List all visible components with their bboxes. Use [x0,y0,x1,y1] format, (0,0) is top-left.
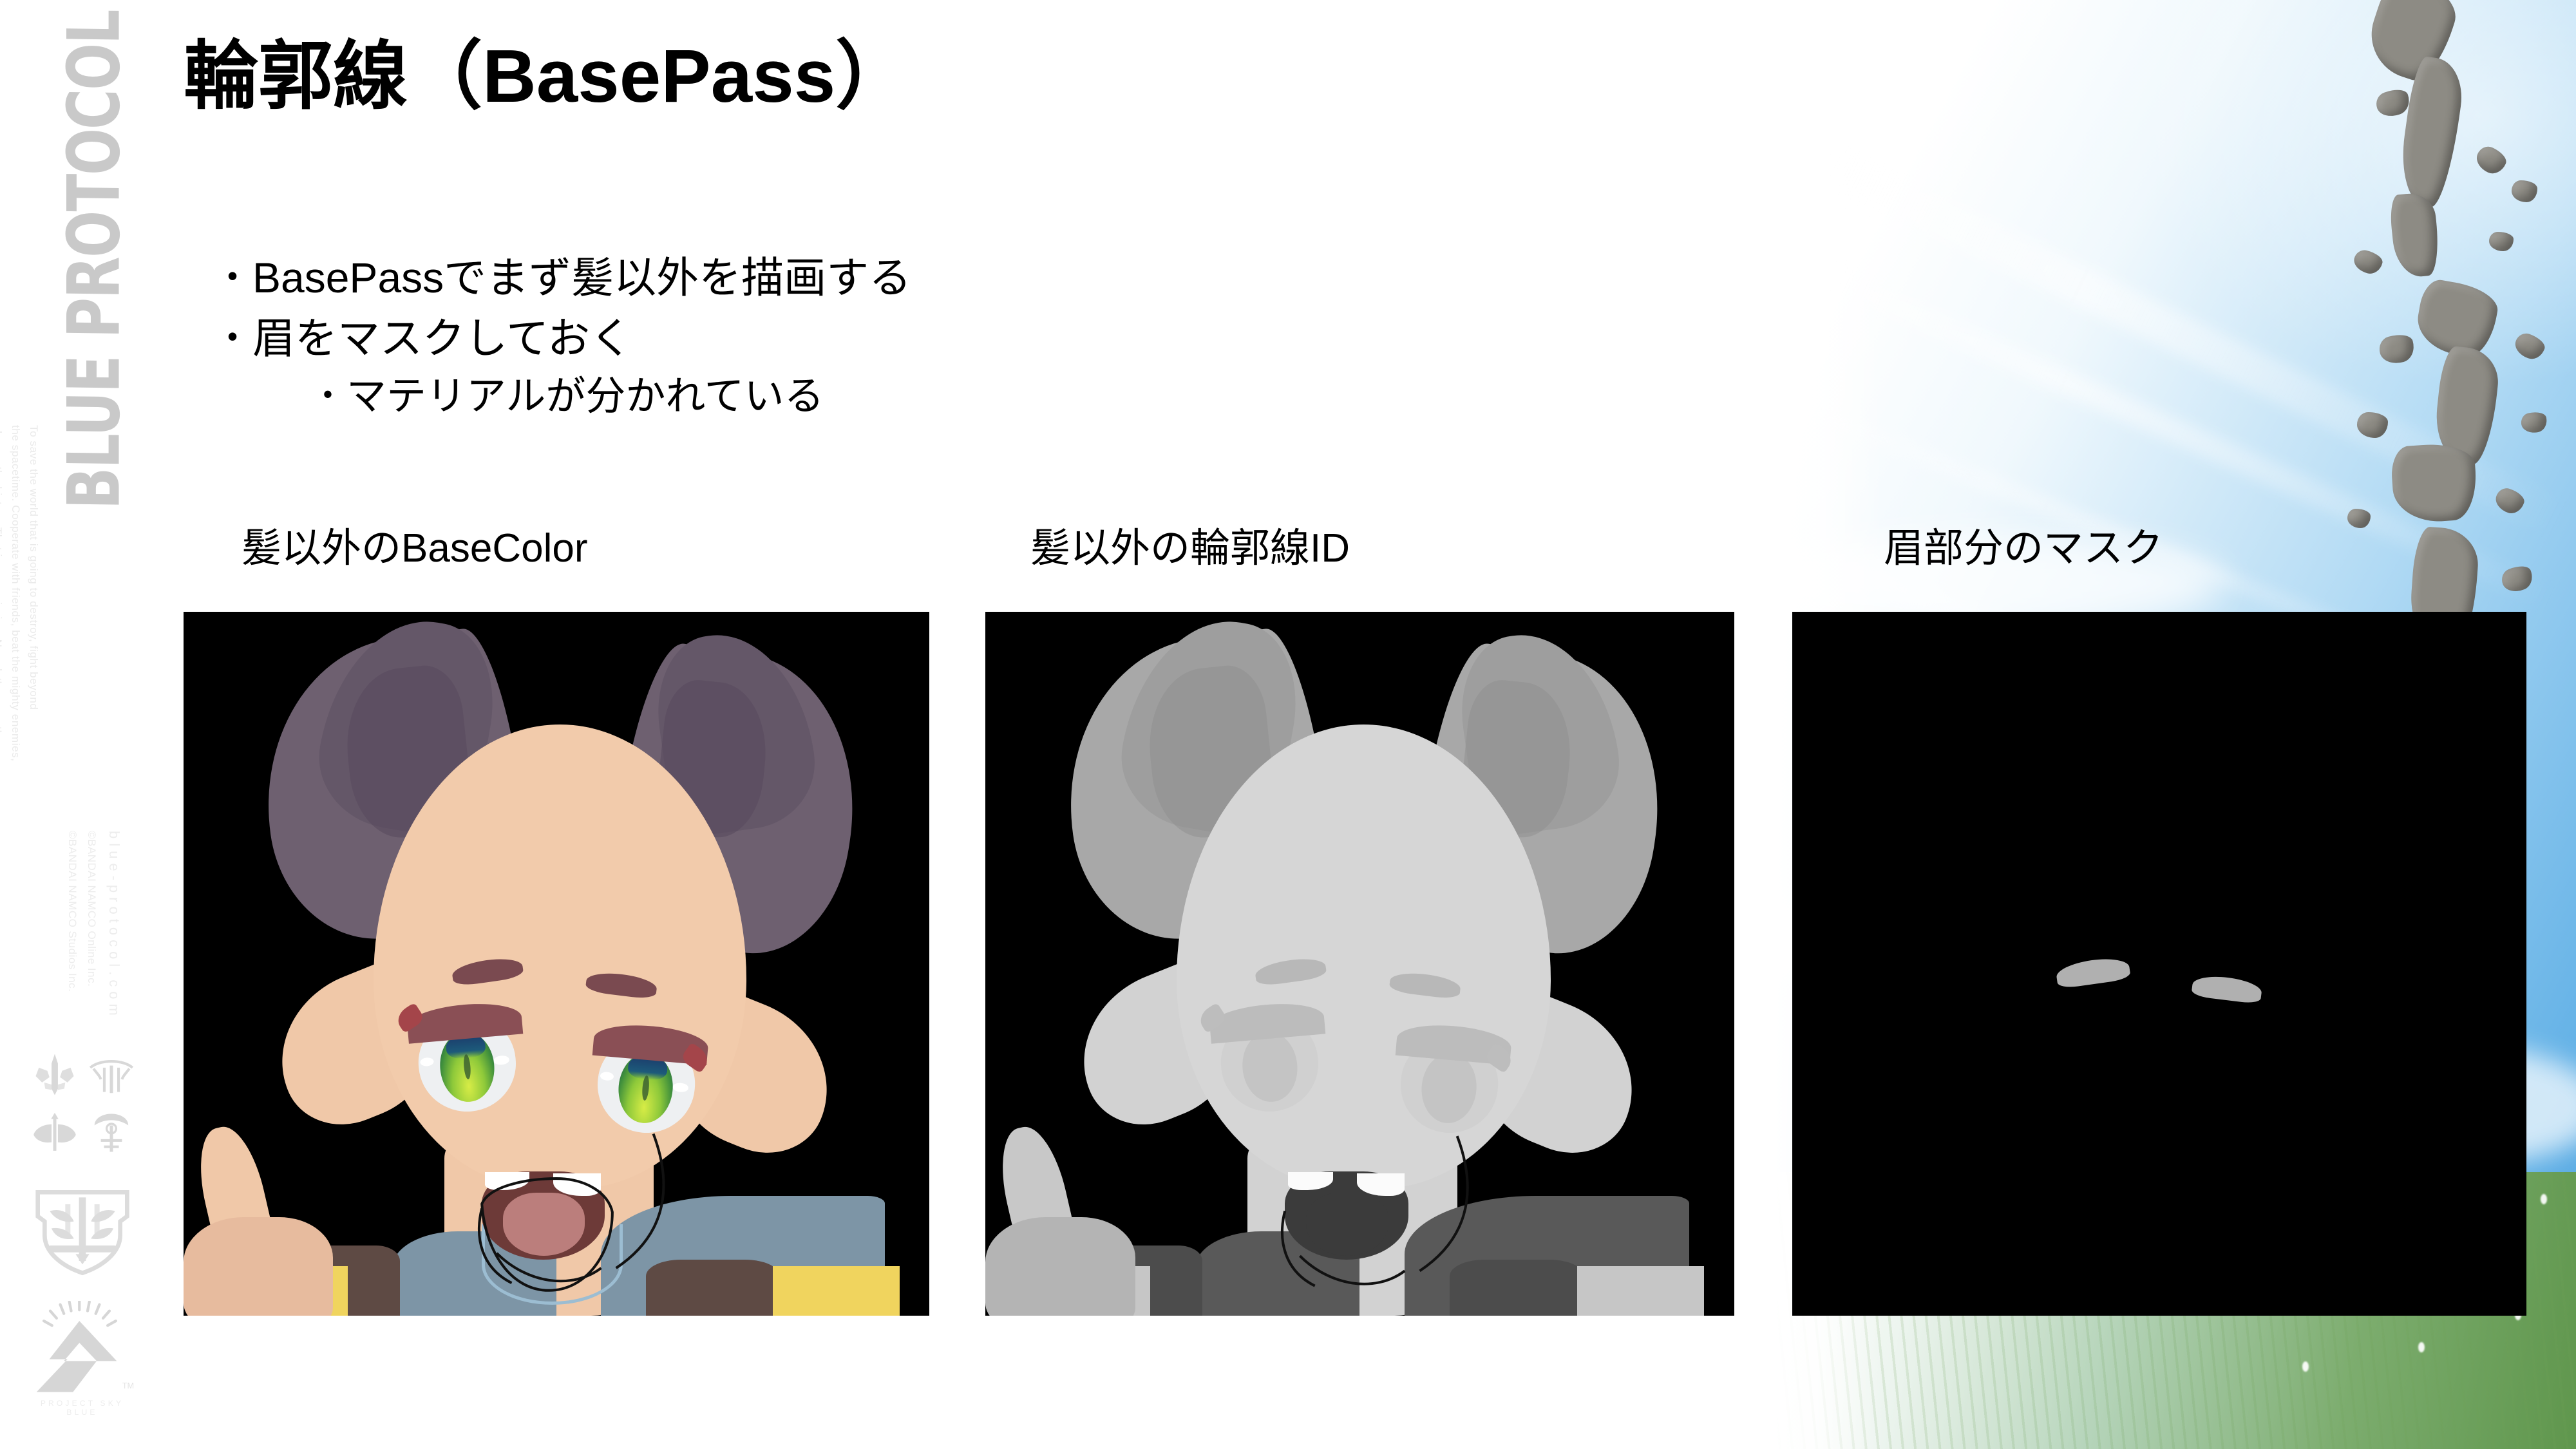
figure-caption-outline-id: 髪以外の輪郭線ID [1030,515,1350,573]
project-sky-blue-logo: TM PROJECT SKY BLUE [26,1301,138,1417]
face-lineart [184,612,929,1316]
bullet-item-sub: • マテリアルが分かれている [309,368,911,425]
svg-text:TM: TM [122,1381,134,1390]
figure-outline-id [985,612,1734,1316]
bullet-marker: • [309,368,346,420]
axe-class-icon [28,1106,81,1159]
staff-class-icon [85,1106,138,1159]
brand-strip: BLUE PROTOCOL TM To save the world that … [0,0,174,1449]
project-sky-blue-label: PROJECT SKY BLUE [26,1399,138,1417]
figure-base-color [184,612,929,1316]
character-outline-id [985,612,1734,1316]
class-icon-group [28,1050,138,1159]
bullet-marker: • [213,248,252,304]
bullet-marker: • [213,308,252,365]
eyebrow-mask-left [2055,955,2131,989]
figure-eyebrow-mask [1792,612,2526,1316]
bullet-item: • BasePassでまず髪以外を描画する [213,248,911,308]
floating-rock [2347,509,2371,528]
slide-root: BLUE PROTOCOL TM To save the world that … [0,0,2576,1449]
floating-rock [2512,180,2537,202]
sword-class-icon [28,1050,81,1103]
bullet-list: • BasePassでまず髪以外を描画する • 眉をマスクしておく • マテリア… [213,248,911,425]
flower [2418,1342,2425,1352]
brand-tagline: To save the world that is going to destr… [0,425,43,786]
brand-url: blue-protocol.com [106,831,122,1020]
bullet-text: BasePassでまず髪以外を描画する [252,248,911,308]
bullet-text: マテリアルが分かれている [346,368,824,425]
floating-rock [2489,232,2514,251]
bullet-item: • 眉をマスクしておく [213,308,911,369]
blue-protocol-logo: BLUE PROTOCOL TM [56,0,133,509]
copyright-line-1: ©BANDAI NAMCO Online Inc. [85,831,98,987]
figure-caption-eyebrow-mask: 眉部分のマスク [1884,515,2163,573]
bow-class-icon [85,1050,138,1103]
character-base-color [184,612,929,1316]
flower [2302,1361,2309,1372]
bullet-text: 眉をマスクしておく [252,308,632,369]
character-eyebrow-mask [1792,612,2526,1316]
copyright-line-2: ©BANDAI NAMCO Studios Inc. [66,831,79,992]
eyebrow-mask-right [2192,974,2264,1005]
figure-caption-base-color: 髪以外のBaseColor [241,515,587,573]
face-lineart [985,612,1734,1316]
crest-emblem-icon [31,1182,134,1278]
blue-protocol-logo-text: BLUE PROTOCOL [59,10,131,509]
flower [2541,1194,2547,1204]
page-title: 輪郭線（BasePass） [184,33,910,119]
